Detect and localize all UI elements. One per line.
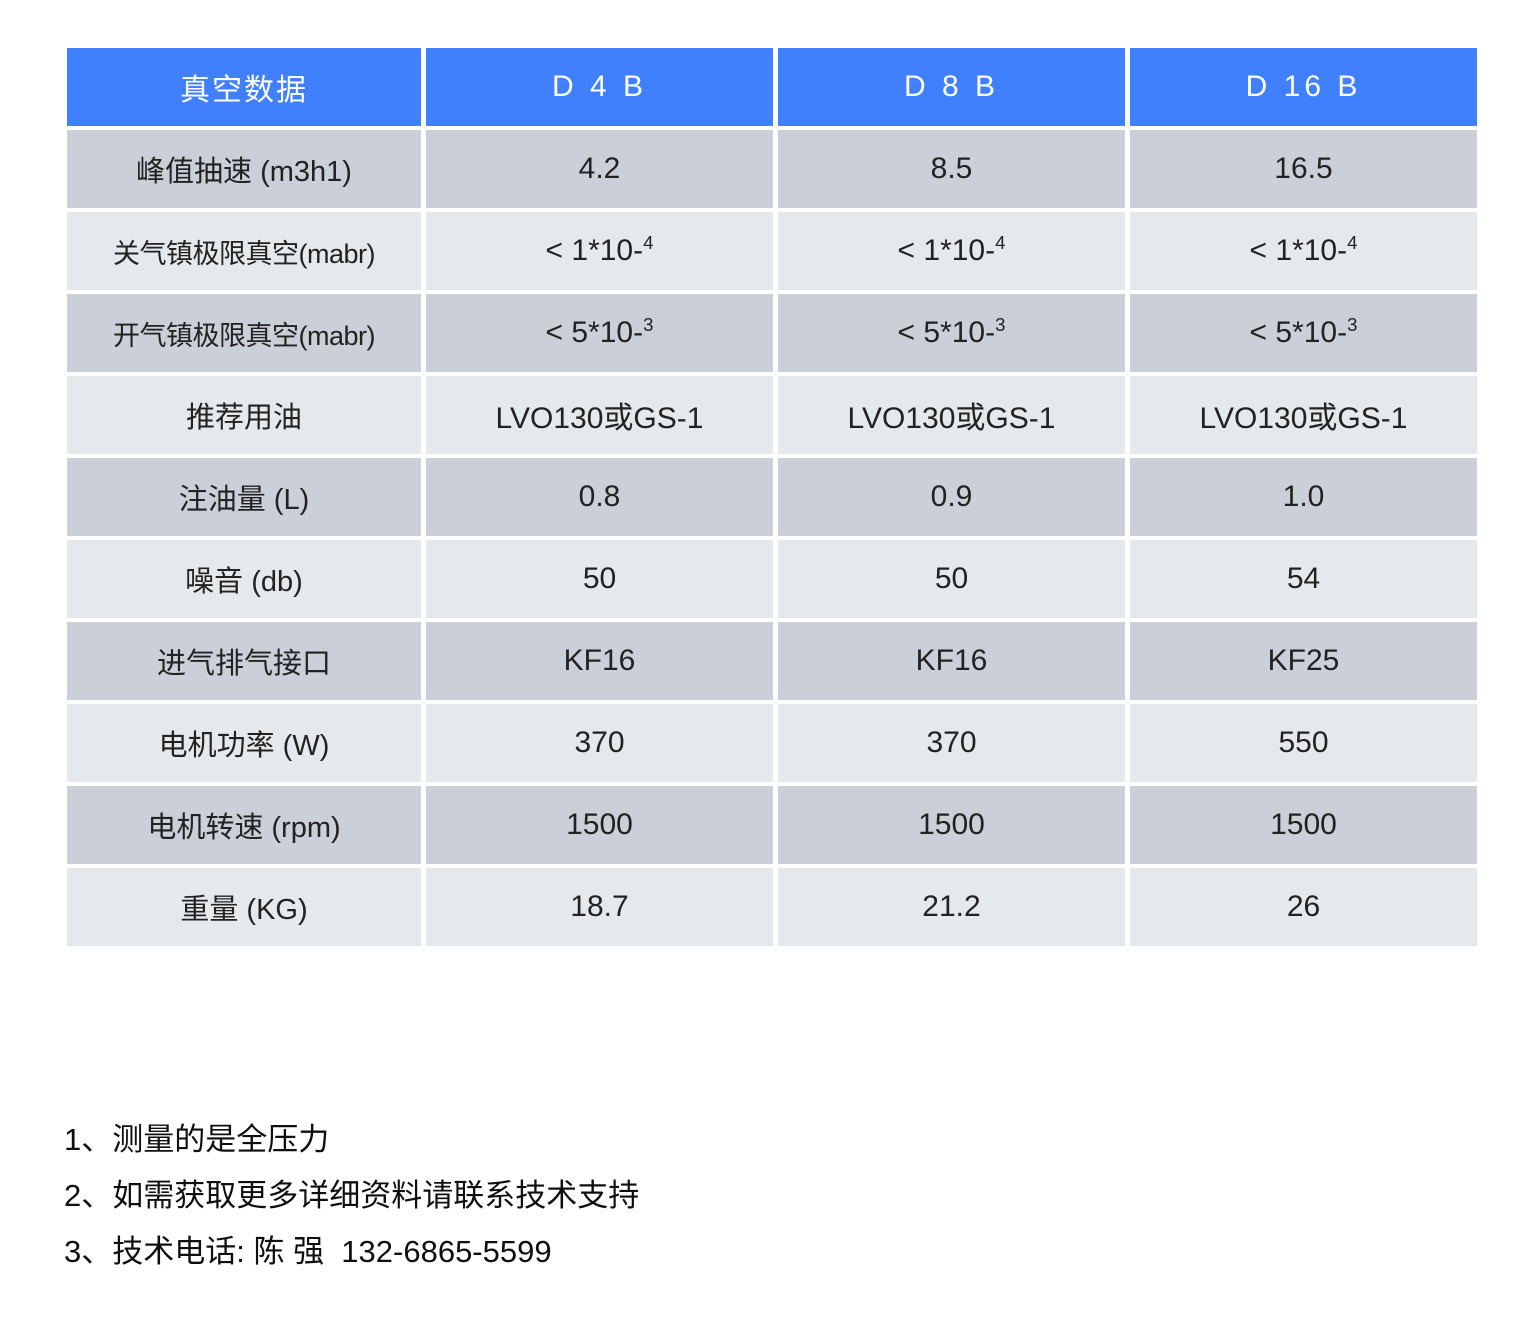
cell-value: LVO130或GS-1 (778, 376, 1125, 454)
cell-text: KF16 (564, 644, 636, 677)
cell-exponent: 3 (1347, 314, 1357, 335)
cell-text: 0.9 (931, 480, 973, 513)
table-row: 重量 (KG) 18.7 21.2 26 (67, 868, 1477, 946)
row-label: 推荐用油 (67, 376, 421, 454)
row-label: 关气镇极限真空(mabr) (67, 212, 421, 290)
table-row: 电机转速 (rpm) 1500 1500 1500 (67, 786, 1477, 864)
cell-value: < 5*10-3 (778, 294, 1125, 372)
cell-text: LVO130或GS-1 (1200, 402, 1408, 435)
cell-text: 16.5 (1274, 152, 1332, 185)
row-label: 进气排气接口 (67, 622, 421, 700)
table-row: 进气排气接口 KF16 KF16 KF25 (67, 622, 1477, 700)
cell-exponent: 3 (643, 314, 653, 335)
column-header-d4b: D 4 B (426, 48, 773, 126)
footnote-3: 3、技术电话: 陈 强 132-6865-5599 (64, 1224, 1464, 1280)
cell-value: 16.5 (1130, 130, 1477, 208)
cell-value: < 1*10-4 (426, 212, 773, 290)
cell-text: 8.5 (931, 152, 973, 185)
table-row: 开气镇极限真空(mabr) < 5*10-3 < 5*10-3 < 5*10-3 (67, 294, 1477, 372)
cell-text: 370 (574, 726, 624, 759)
cell-value: < 1*10-4 (778, 212, 1125, 290)
row-label: 电机功率 (W) (67, 704, 421, 782)
row-label: 电机转速 (rpm) (67, 786, 421, 864)
cell-text: < 1*10- (1250, 234, 1348, 267)
table-row: 电机功率 (W) 370 370 550 (67, 704, 1477, 782)
row-label: 峰值抽速 (m3h1) (67, 130, 421, 208)
cell-text: < 5*10- (898, 316, 996, 349)
cell-text: < 1*10- (898, 234, 996, 267)
cell-text: 4.2 (579, 152, 621, 185)
cell-value: 54 (1130, 540, 1477, 618)
cell-text: KF25 (1268, 644, 1340, 677)
row-label: 噪音 (db) (67, 540, 421, 618)
cell-exponent: 4 (1347, 232, 1357, 253)
cell-value: 1500 (426, 786, 773, 864)
cell-text: < 5*10- (546, 316, 644, 349)
row-label: 开气镇极限真空(mabr) (67, 294, 421, 372)
cell-value: 370 (426, 704, 773, 782)
table-row: 关气镇极限真空(mabr) < 1*10-4 < 1*10-4 < 1*10-4 (67, 212, 1477, 290)
cell-text: KF16 (916, 644, 988, 677)
cell-value: 550 (1130, 704, 1477, 782)
column-header-d8b: D 8 B (778, 48, 1125, 126)
cell-value: 4.2 (426, 130, 773, 208)
cell-value: 8.5 (778, 130, 1125, 208)
cell-value: 21.2 (778, 868, 1125, 946)
row-label: 注油量 (L) (67, 458, 421, 536)
cell-value: KF16 (778, 622, 1125, 700)
cell-text: LVO130或GS-1 (848, 402, 1056, 435)
cell-value: 0.8 (426, 458, 773, 536)
cell-text: 1500 (1270, 808, 1337, 841)
table-row: 注油量 (L) 0.8 0.9 1.0 (67, 458, 1477, 536)
cell-text: 18.7 (570, 890, 628, 923)
cell-text: LVO130或GS-1 (496, 402, 704, 435)
cell-value: < 1*10-4 (1130, 212, 1477, 290)
cell-exponent: 4 (643, 232, 653, 253)
column-header-spec: 真空数据 (67, 48, 421, 126)
cell-value: < 5*10-3 (426, 294, 773, 372)
footnotes: 1、测量的是全压力 2、如需获取更多详细资料请联系技术支持 3、技术电话: 陈 … (64, 1112, 1464, 1280)
cell-exponent: 3 (995, 314, 1005, 335)
cell-value: KF16 (426, 622, 773, 700)
cell-value: 370 (778, 704, 1125, 782)
table-row: 噪音 (db) 50 50 54 (67, 540, 1477, 618)
footnote-2: 2、如需获取更多详细资料请联系技术支持 (64, 1168, 1464, 1224)
cell-text: 1500 (566, 808, 633, 841)
table-header: 真空数据 D 4 B D 8 B D 16 B (67, 48, 1477, 126)
cell-text: 1500 (918, 808, 985, 841)
cell-value: 18.7 (426, 868, 773, 946)
cell-text: 370 (926, 726, 976, 759)
cell-text: 50 (583, 562, 616, 595)
cell-value: LVO130或GS-1 (1130, 376, 1477, 454)
cell-text: < 5*10- (1250, 316, 1348, 349)
footnote-1: 1、测量的是全压力 (64, 1112, 1464, 1168)
cell-text: 0.8 (579, 480, 621, 513)
column-header-d16b: D 16 B (1130, 48, 1477, 126)
cell-value: 50 (778, 540, 1125, 618)
cell-value: 26 (1130, 868, 1477, 946)
cell-text: 21.2 (922, 890, 980, 923)
cell-text: 54 (1287, 562, 1320, 595)
cell-exponent: 4 (995, 232, 1005, 253)
vacuum-spec-table: 真空数据 D 4 B D 8 B D 16 B 峰值抽速 (m3h1) 4.2 … (62, 44, 1482, 950)
cell-value: 50 (426, 540, 773, 618)
cell-value: 1500 (1130, 786, 1477, 864)
cell-text: 550 (1278, 726, 1328, 759)
row-label: 重量 (KG) (67, 868, 421, 946)
cell-text: 26 (1287, 890, 1320, 923)
cell-value: LVO130或GS-1 (426, 376, 773, 454)
cell-text: 1.0 (1283, 480, 1325, 513)
cell-text: 50 (935, 562, 968, 595)
table-row: 推荐用油 LVO130或GS-1 LVO130或GS-1 LVO130或GS-1 (67, 376, 1477, 454)
table-row: 峰值抽速 (m3h1) 4.2 8.5 16.5 (67, 130, 1477, 208)
cell-text: < 1*10- (546, 234, 644, 267)
table-body: 峰值抽速 (m3h1) 4.2 8.5 16.5 关气镇极限真空(mabr) <… (67, 130, 1477, 946)
cell-value: < 5*10-3 (1130, 294, 1477, 372)
cell-value: KF25 (1130, 622, 1477, 700)
cell-value: 1500 (778, 786, 1125, 864)
cell-value: 1.0 (1130, 458, 1477, 536)
table-header-row: 真空数据 D 4 B D 8 B D 16 B (67, 48, 1477, 126)
spec-sheet-page: 真空数据 D 4 B D 8 B D 16 B 峰值抽速 (m3h1) 4.2 … (0, 0, 1538, 1332)
cell-value: 0.9 (778, 458, 1125, 536)
